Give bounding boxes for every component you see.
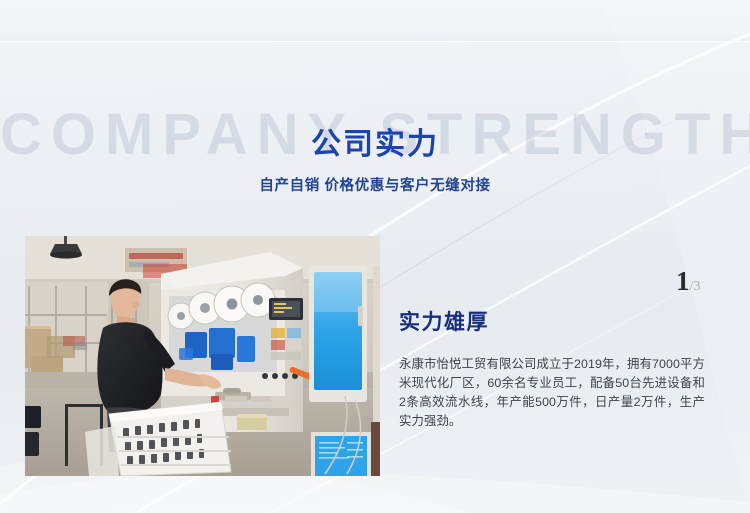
- feature-body: 永康市怡悦工贸有限公司成立于2019年，拥有7000平方米现代化厂区，60余名专…: [399, 355, 705, 431]
- slide-header: 公司实力 自产自销 价格优惠与客户无缝对接: [0, 128, 750, 195]
- feature-title: 实力雄厚: [399, 306, 489, 336]
- page-subtitle: 自产自销 价格优惠与客户无缝对接: [0, 174, 750, 195]
- factory-photo: [25, 236, 380, 476]
- counter-current: 1: [676, 266, 690, 296]
- company-strength-slide: COMPANY STRENGTH 公司实力 自产自销 价格优惠与客户无缝对接: [0, 0, 750, 513]
- counter-total: /3: [690, 279, 701, 294]
- slide-counter: 1/3: [676, 266, 700, 297]
- page-title: 公司实力: [0, 128, 750, 162]
